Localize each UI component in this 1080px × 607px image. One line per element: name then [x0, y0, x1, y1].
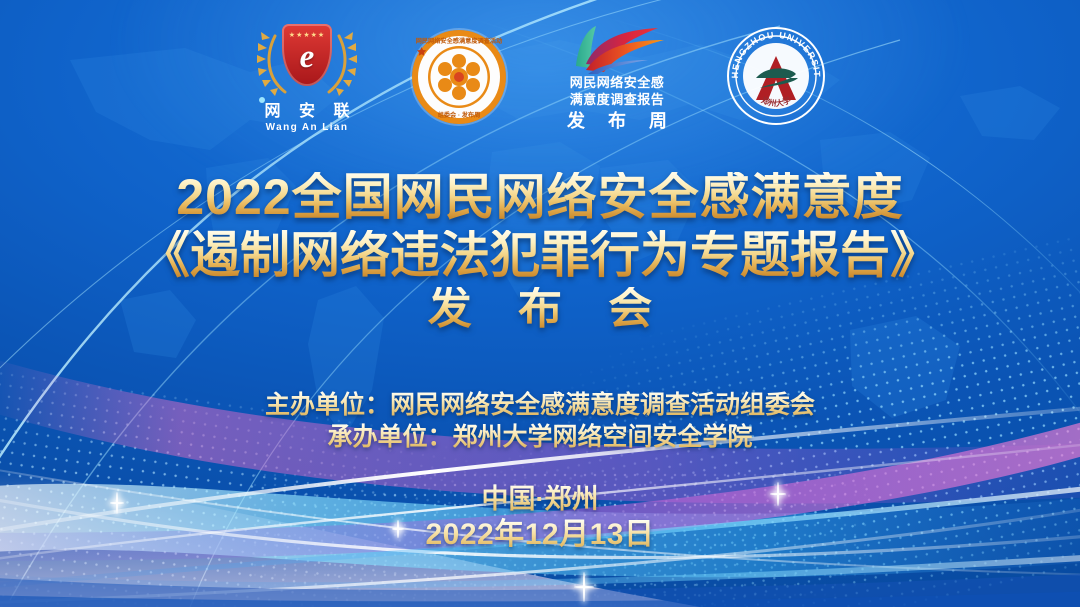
- logo-wang-an-lian: ★★★★★ e 网 安 联 Wang An Lian: [248, 22, 366, 134]
- title-line-2: 《遏制网络违法犯罪行为专题报告》: [0, 230, 1080, 281]
- place-text: 中国·郑州: [0, 481, 1080, 517]
- logo-survey-committee: 网民网络安全感满意度调查活动 组委会 · 发布周: [404, 22, 514, 124]
- title-line-3: 发 布 会: [0, 287, 1080, 332]
- release-week-line1: 网民网络安全感: [570, 74, 665, 91]
- logo-row: ★★★★★ e 网 安 联 Wang An Lian: [0, 22, 1080, 154]
- bottom-ribbon-artwork: [0, 347, 1080, 607]
- poster-canvas: ★★★★★ e 网 安 联 Wang An Lian: [0, 0, 1080, 607]
- stars-icon: ★★★★★: [289, 31, 325, 39]
- organizer-block: 主办单位：网民网络安全感满意度调查活动组委会 承办单位：郑州大学网络空间安全学院: [0, 389, 1080, 453]
- title-line-1: 2022全国网民网络安全感满意度: [0, 172, 1080, 223]
- letter-e-icon: e: [300, 41, 315, 74]
- zhengzhou-university-crest-icon: ZHENGZHOU UNIVERSITY 郑州大学: [726, 26, 826, 126]
- svg-text:组委会 · 发布周: 组委会 · 发布周: [438, 111, 481, 119]
- organizer-line-cohost: 承办单位：郑州大学网络空间安全学院: [0, 421, 1080, 453]
- title-block: 2022全国网民网络安全感满意度 《遏制网络违法犯罪行为专题报告》 发 布 会: [0, 172, 1080, 332]
- flame-ribbon-icon: [562, 22, 672, 74]
- survey-committee-seal-icon: 网民网络安全感满意度调查活动 组委会 · 发布周: [412, 30, 506, 124]
- logo-name-en: Wang An Lian: [266, 121, 349, 134]
- wang-an-lian-emblem-icon: ★★★★★ e: [255, 22, 359, 100]
- organizer-line-host: 主办单位：网民网络安全感满意度调查活动组委会: [0, 389, 1080, 421]
- release-week-line3: 发 布 周: [558, 109, 676, 133]
- place-date-block: 中国·郑州 2022年12月13日: [0, 481, 1080, 553]
- date-text: 2022年12月13日: [0, 517, 1080, 553]
- logo-name-cn: 网 安 联: [258, 103, 357, 121]
- svg-text:网民网络安全感满意度调查活动: 网民网络安全感满意度调查活动: [416, 37, 503, 45]
- logo-release-week: 网民网络安全感 满意度调查报告 发 布 周: [552, 22, 682, 133]
- release-week-line2: 满意度调查报告: [570, 91, 665, 108]
- logo-zhengzhou-university: ZHENGZHOU UNIVERSITY 郑州大学: [720, 22, 832, 126]
